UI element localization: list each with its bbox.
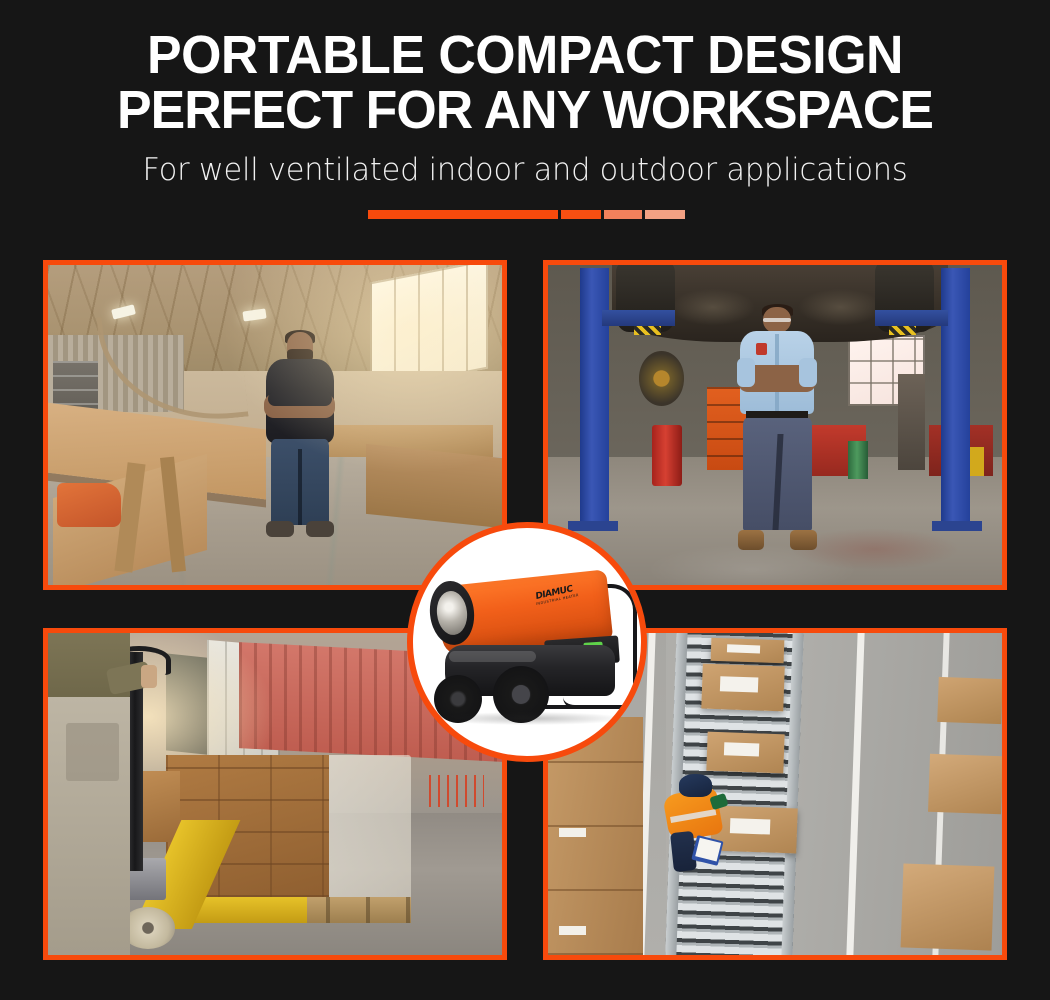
parcel-label xyxy=(730,818,770,835)
mechanic-boot-left xyxy=(738,530,764,549)
auto-repair-garage-image xyxy=(548,265,1002,585)
heater-tank-highlight xyxy=(449,651,536,662)
heater-drop-shadow xyxy=(436,712,623,725)
garage-green-drum xyxy=(848,441,868,479)
header: PORTABLE COMPACT DESIGN PERFECT FOR ANY … xyxy=(0,0,1050,188)
hoist-arm-left xyxy=(602,310,675,326)
diesel-forced-air-heater: DIAMUC INDUSTRIAL HEATER xyxy=(423,568,641,728)
photo-panel-woodworking-workshop xyxy=(43,260,507,590)
warehouse-box-right-3 xyxy=(901,863,995,950)
heater-brand-logo: DIAMUC INDUSTRIAL HEATER xyxy=(536,582,580,605)
warehouse-box-right-2 xyxy=(928,754,1002,814)
woodworking-workshop-image xyxy=(48,265,502,585)
heater-frame-crossbar xyxy=(536,705,632,709)
warehouse-worker xyxy=(662,768,730,871)
parcel-label xyxy=(727,645,761,654)
garage-mechanic xyxy=(736,307,818,550)
worker-clipboard xyxy=(692,835,724,866)
conveyor-parcel-3 xyxy=(706,731,784,772)
mechanic-trousers xyxy=(743,418,812,530)
divider xyxy=(368,210,686,219)
divider-segment-3 xyxy=(604,210,642,219)
hoist-arm-right xyxy=(875,310,948,326)
divider-segment-4 xyxy=(645,210,685,219)
product-feature-banner: PORTABLE COMPACT DESIGN PERFECT FOR ANY … xyxy=(0,0,1050,1000)
headline-line-2: PERFECT FOR ANY WORKSPACE xyxy=(34,83,1015,138)
dock-worker-pocket xyxy=(66,723,119,781)
parcel-label xyxy=(720,676,758,693)
background-boxes xyxy=(139,771,180,842)
hoist-safety-stripe-left xyxy=(634,326,661,336)
divider-segment-2 xyxy=(561,210,601,219)
warehouse-box-right-1 xyxy=(938,677,1002,724)
mechanic-sleeve-right xyxy=(799,358,817,387)
headline-line-1: PORTABLE COMPACT DESIGN xyxy=(34,28,1015,83)
vehicle-hoist-post-right xyxy=(941,268,971,524)
mechanic-name-badge xyxy=(756,343,767,355)
hoist-base-left xyxy=(568,521,618,531)
divider-segment-1 xyxy=(368,210,558,219)
mechanic-safety-glasses xyxy=(763,318,791,323)
hoist-base-right xyxy=(932,521,982,531)
garage-red-drum xyxy=(652,425,682,486)
product-badge: DIAMUC INDUSTRIAL HEATER xyxy=(407,522,647,762)
mechanic-sleeve-left xyxy=(737,358,755,387)
page-title: PORTABLE COMPACT DESIGN PERFECT FOR ANY … xyxy=(21,28,1029,138)
conveyor-parcel-2 xyxy=(702,664,785,712)
subheadline: For well ventilated indoor and outdoor a… xyxy=(11,152,1040,188)
conveyor-parcel-1 xyxy=(711,638,784,663)
dock-worker xyxy=(48,633,130,955)
workshop-sunlight-glow xyxy=(48,265,502,585)
worker-cap xyxy=(679,774,712,797)
dock-worker-hand xyxy=(141,665,157,688)
parcel-label xyxy=(724,742,760,756)
garage-drill-press xyxy=(898,374,925,470)
hoist-safety-stripe-right xyxy=(889,326,916,336)
vehicle-hoist-post-left xyxy=(580,268,610,524)
garage-wall-fan xyxy=(639,351,684,405)
mechanic-boot-right xyxy=(790,530,816,549)
photo-panel-auto-repair-garage xyxy=(543,260,1007,590)
